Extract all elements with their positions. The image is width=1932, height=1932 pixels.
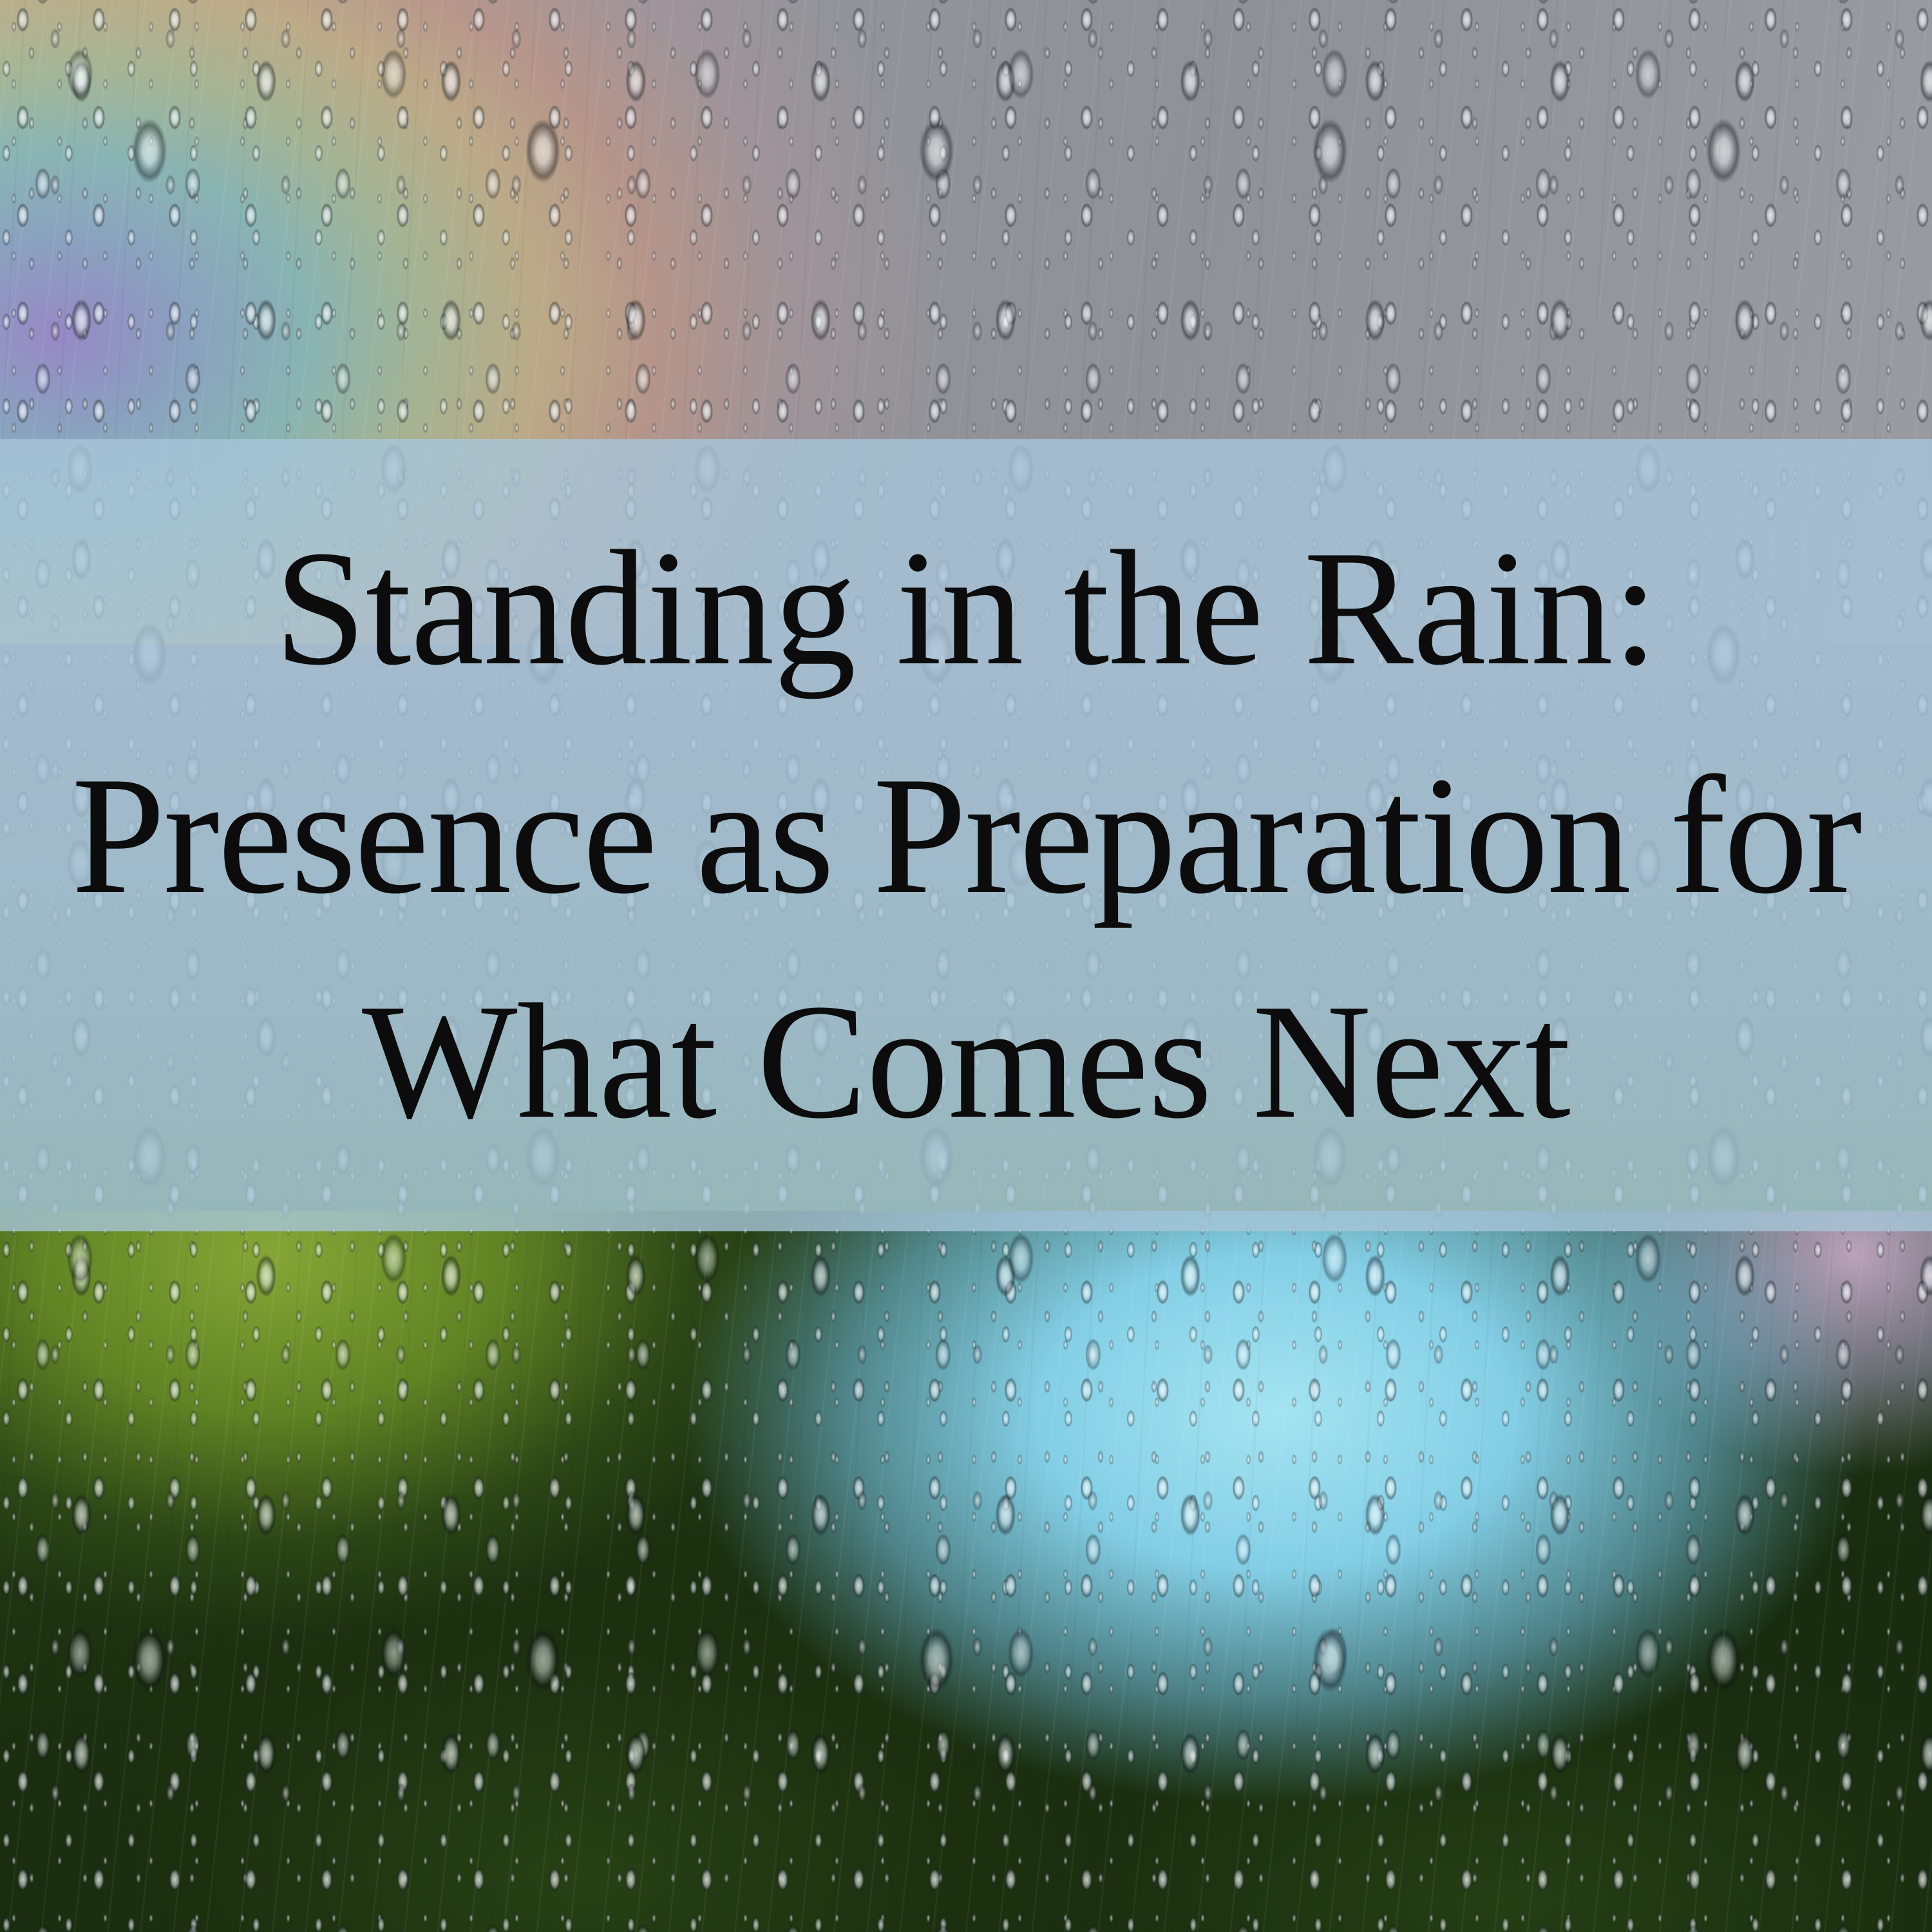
page-title: Standing in the Rain: Presence as Prepar… [0,495,1932,1175]
background-bottom-foliage-sky [0,1211,1932,1932]
title-line-1: Standing in the Rain: [0,495,1932,722]
title-overlay-band: Standing in the Rain: Presence as Prepar… [0,439,1932,1231]
title-line-3: What Comes Next [0,949,1932,1175]
poster-canvas: Standing in the Rain: Presence as Prepar… [0,0,1932,1932]
title-line-2: Presence as Preparation for [0,722,1932,949]
